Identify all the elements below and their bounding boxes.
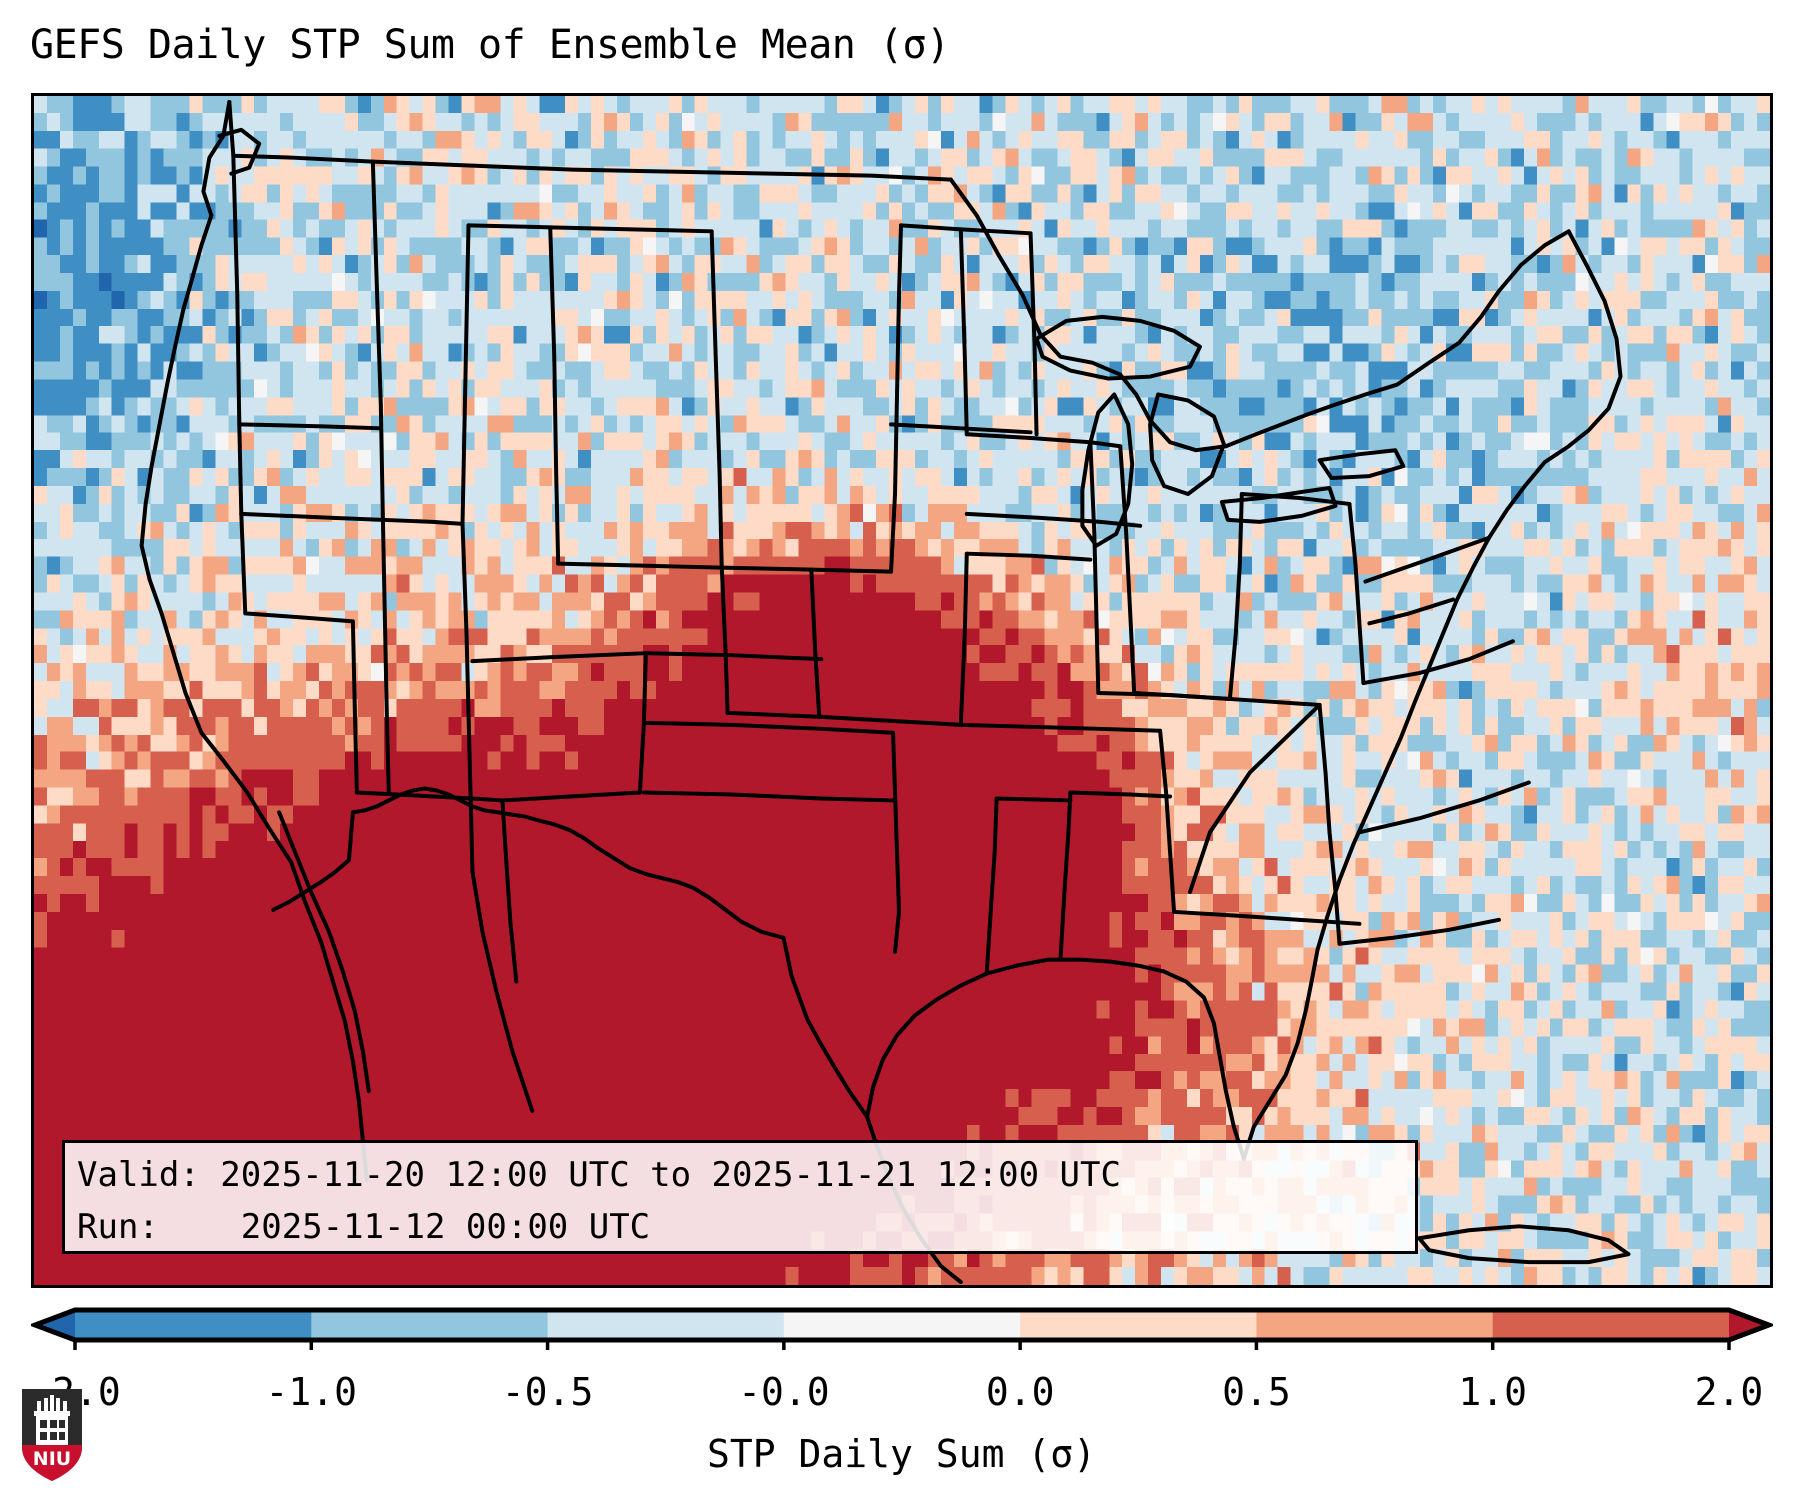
geo-boundary-36 (893, 733, 899, 952)
colorbar[interactable] (31, 1306, 1773, 1350)
colorbar-segment-5 (1256, 1310, 1493, 1340)
geo-boundary-31 (722, 564, 728, 713)
forecast-info-box: Valid: 2025-11-20 12:00 UTC to 2025-11-2… (62, 1140, 1418, 1254)
geo-boundary-69 (1419, 1226, 1628, 1262)
colorbar-segment-1 (311, 1310, 548, 1340)
geo-boundary-4 (951, 180, 1569, 451)
colorbar-segment-0 (75, 1310, 312, 1340)
colorbar-tick-label-2: -0.5 (502, 1370, 594, 1414)
geo-boundary-9 (1320, 450, 1404, 478)
colorbar-tick-label-4: 0.0 (986, 1370, 1055, 1414)
geo-boundary-45 (961, 554, 967, 725)
figure-canvas: GEFS Daily STP Sum of Ensemble Mean (σ) … (0, 0, 1803, 1506)
geo-boundary-38 (891, 225, 901, 571)
geo-boundary-46 (967, 554, 1091, 560)
geo-boundary-22 (383, 514, 389, 793)
colorbar-tick-label-1: -1.0 (266, 1370, 358, 1414)
geo-boundary-11 (867, 960, 1244, 1159)
geo-boundary-43 (967, 434, 1120, 446)
geo-boundary-39 (901, 225, 1031, 233)
colorbar-tick-labels: -2.0-1.0-0.5-0.00.00.51.02.0 (31, 1370, 1773, 1418)
colorbar-tick-label-6: 1.0 (1458, 1370, 1527, 1414)
geo-boundary-70 (472, 872, 532, 1111)
geo-boundary-66 (1070, 792, 1170, 796)
geo-boundary-29 (712, 231, 722, 563)
colorbar-segment-3 (784, 1310, 1021, 1340)
page-title: GEFS Daily STP Sum of Ensemble Mean (σ) (30, 22, 950, 68)
geo-boundary-14 (353, 789, 784, 938)
geo-boundary-51 (1160, 731, 1174, 912)
run-time-line: Run: 2025-11-12 00:00 UTC (77, 1201, 1403, 1253)
geo-boundary-44 (967, 514, 1140, 526)
geo-boundary-65 (1060, 792, 1070, 959)
geo-boundary-57 (1190, 705, 1320, 892)
geo-boundary-27 (468, 225, 711, 231)
geo-boundary-71 (502, 800, 516, 981)
geo-boundary-33 (728, 713, 961, 725)
geo-boundary-41 (961, 229, 967, 434)
geo-boundary-56 (1174, 912, 1359, 924)
geo-boundary-34 (646, 653, 821, 659)
geo-boundary-30 (558, 564, 891, 572)
geo-boundary-3 (229, 102, 951, 180)
geo-boundary-17 (241, 514, 462, 524)
geo-boundary-19 (373, 162, 383, 514)
geo-boundary-24 (357, 792, 502, 800)
geo-boundary-23 (241, 514, 357, 793)
geo-boundary-0 (142, 102, 367, 1181)
geo-boundary-21 (463, 524, 473, 872)
geo-boundary-25 (502, 653, 646, 800)
geo-boundary-62 (1339, 920, 1498, 944)
geo-boundary-40 (891, 424, 1031, 432)
colorbar-segment-4 (1020, 1310, 1257, 1340)
colorbar-tick-label-5: 0.5 (1222, 1370, 1291, 1414)
colorbar-tick-label-3: -0.0 (738, 1370, 830, 1414)
geo-boundary-42 (1031, 233, 1037, 434)
geo-boundary-28 (550, 227, 558, 563)
colorbar-axis-label: STP Daily Sum (σ) (0, 1432, 1803, 1476)
colorbar-segment-2 (548, 1310, 785, 1340)
geo-boundary-53 (1230, 494, 1242, 699)
geo-boundary-16 (233, 156, 241, 514)
geo-boundary-20 (239, 424, 381, 428)
geo-boundary-68 (997, 798, 1071, 800)
geo-boundary-58 (1349, 504, 1363, 683)
valid-time-line: Valid: 2025-11-20 12:00 UTC to 2025-11-2… (77, 1149, 1403, 1201)
niu-logo-text: NIU (33, 1448, 71, 1470)
colorbar-segment-6 (1493, 1310, 1730, 1340)
geo-boundary-52 (1134, 693, 1319, 705)
geo-boundary-12 (783, 938, 867, 1117)
geography-overlay (34, 96, 1770, 1285)
geo-boundary-5 (1037, 317, 1200, 379)
geo-boundary-55 (1320, 705, 1330, 832)
map-plot-area[interactable] (31, 93, 1773, 1288)
geo-boundary-60 (1359, 783, 1528, 833)
geo-boundary-32 (811, 570, 819, 717)
geo-boundary-37 (644, 792, 893, 800)
geo-boundary-67 (987, 798, 997, 973)
colorbar-tick-label-7: 2.0 (1695, 1370, 1764, 1414)
geo-boundary-8 (1222, 488, 1336, 522)
geo-boundary-7 (1150, 394, 1224, 493)
geo-boundary-47 (1090, 442, 1098, 693)
geo-boundary-10 (1244, 231, 1621, 1158)
niu-logo: NIU (18, 1385, 86, 1485)
geo-boundary-48 (961, 725, 1160, 731)
geo-boundary-35 (644, 723, 893, 733)
geo-boundary-1 (219, 130, 259, 174)
geo-boundary-18 (463, 225, 469, 523)
geo-boundary-63 (1369, 599, 1453, 623)
geo-boundary-26 (472, 653, 645, 661)
